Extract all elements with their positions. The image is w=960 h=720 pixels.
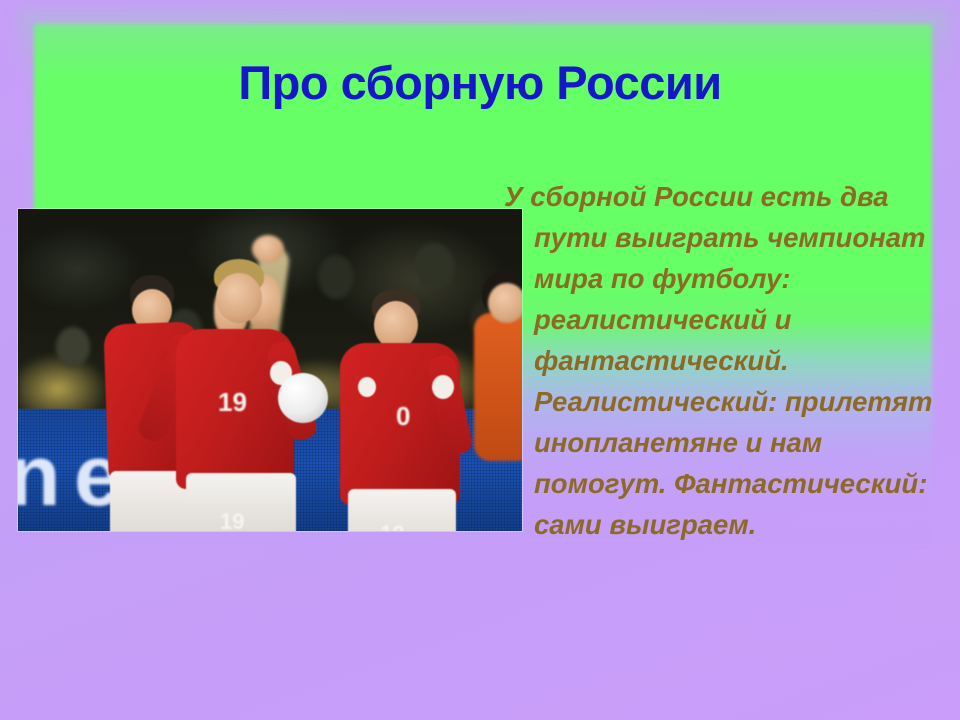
body-paragraph: У сборной России есть два пути выиграть … [504, 176, 950, 545]
spectator-head [318, 255, 354, 299]
jersey-chest-badge [358, 377, 376, 397]
player-head [374, 301, 418, 349]
spectator-head [414, 243, 454, 289]
player-number: 19 [218, 387, 247, 418]
player-number: 10 [380, 521, 404, 531]
spectator-head [56, 327, 90, 367]
led-board-glyph: n [18, 427, 61, 526]
jersey-sleeve-badge [432, 375, 454, 399]
player-number: 19 [220, 509, 244, 531]
raised-fan-fist [252, 235, 284, 263]
player-head [216, 273, 262, 323]
football [278, 373, 328, 423]
player-number: 0 [396, 401, 410, 432]
presentation-slide: Про сборную России n e e c [0, 0, 960, 720]
celebration-photo: n e e c 17 19 [18, 209, 522, 531]
slide-body-text: У сборной России есть два пути выиграть … [504, 176, 950, 545]
page-title: Про сборную России [0, 55, 960, 110]
